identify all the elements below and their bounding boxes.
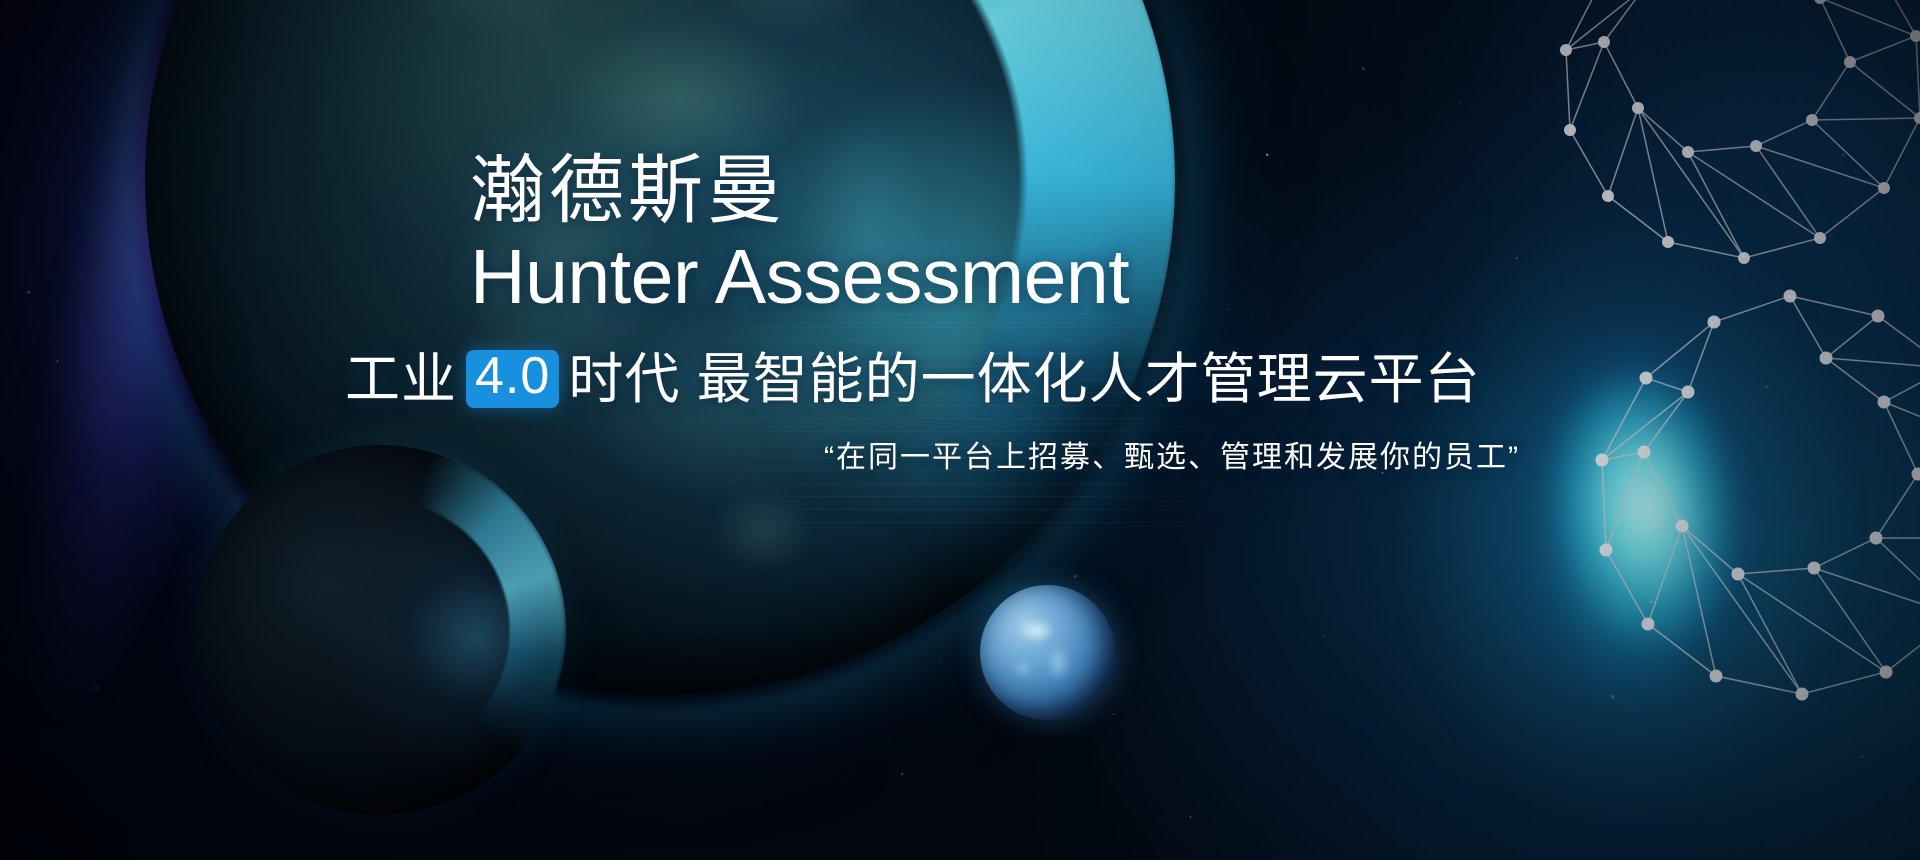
- tagline-quote: “在同一平台上招募、甄选、管理和发展你的员工”: [470, 432, 1530, 476]
- tagline-prefix: 工业: [345, 349, 457, 411]
- hero-banner: 瀚德斯曼 Hunter Assessment 工业 4.0 时代 最智能的一体化…: [0, 0, 1920, 860]
- network-ring-bottom: [1550, 270, 1920, 750]
- hero-text-block: 瀚德斯曼 Hunter Assessment 工业 4.0 时代 最智能的一体化…: [470, 150, 1530, 476]
- tagline-suffix: 时代 最智能的一体化人才管理云平台: [568, 349, 1480, 411]
- page-title-english: Hunter Assessment: [470, 237, 1530, 319]
- dark-moon: [195, 445, 565, 815]
- page-title-chinese: 瀚德斯曼: [470, 150, 1530, 231]
- tagline: 工业 4.0 时代 最智能的一体化人才管理云平台: [345, 349, 1530, 411]
- blue-moon: [980, 585, 1115, 720]
- network-ring-top: [1520, 0, 1920, 310]
- industry-version-badge: 4.0: [466, 350, 559, 408]
